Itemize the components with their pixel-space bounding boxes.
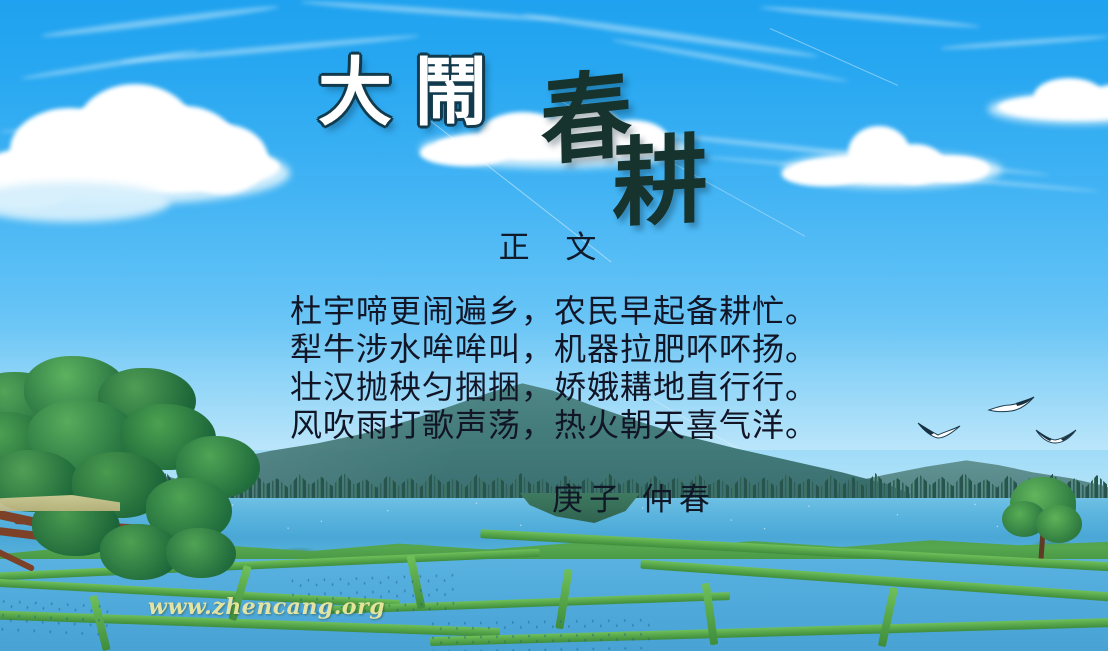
cirrus-streak-icon xyxy=(760,4,980,29)
poem-signature-date: 庚子 仲春 xyxy=(0,474,1108,519)
cirrus-streak-icon xyxy=(120,33,419,65)
cloud-cumulus-mid xyxy=(420,96,690,176)
paddy-dike xyxy=(878,587,898,647)
tree-foliage xyxy=(166,528,236,578)
poem-line: 杜宇啼更闹遍乡，农民早起备耕忙。 xyxy=(0,292,1108,330)
cirrus-streak-icon xyxy=(940,34,1108,51)
cloud-cumulus-far-right xyxy=(988,72,1108,134)
rice-seedlings xyxy=(430,617,651,651)
cloud-cumulus-right xyxy=(782,112,1002,198)
watermark-url: www.zhencang.org xyxy=(148,594,385,620)
poem-line: 风吹雨打歌声荡，热火朝天喜气洋。 xyxy=(0,406,1108,444)
cirrus-streak-icon xyxy=(40,3,279,39)
cirrus-streak-icon xyxy=(300,0,560,23)
poster-canvas: 大鬧 春 耕 正 文 杜宇啼更闹遍乡，农民早起备耕忙。 犁牛涉水哞哞叫，机器拉肥… xyxy=(0,0,1108,651)
poem-body: 杜宇啼更闹遍乡，农民早起备耕忙。 犁牛涉水哞哞叫，机器拉肥吥吥扬。 壮汉抛秧匀捆… xyxy=(0,292,1108,444)
cirrus-streak-icon xyxy=(521,11,819,60)
section-heading-zhengwen: 正 文 xyxy=(0,222,1108,267)
poem-line: 壮汉抛秧匀捆捆，娇娥耩地直行行。 xyxy=(0,368,1108,406)
poem-line: 犁牛涉水哞哞叫，机器拉肥吥吥扬。 xyxy=(0,330,1108,368)
cloud-cumulus-left xyxy=(0,62,290,212)
tree-branch xyxy=(0,540,35,572)
rice-seedlings xyxy=(0,598,111,638)
